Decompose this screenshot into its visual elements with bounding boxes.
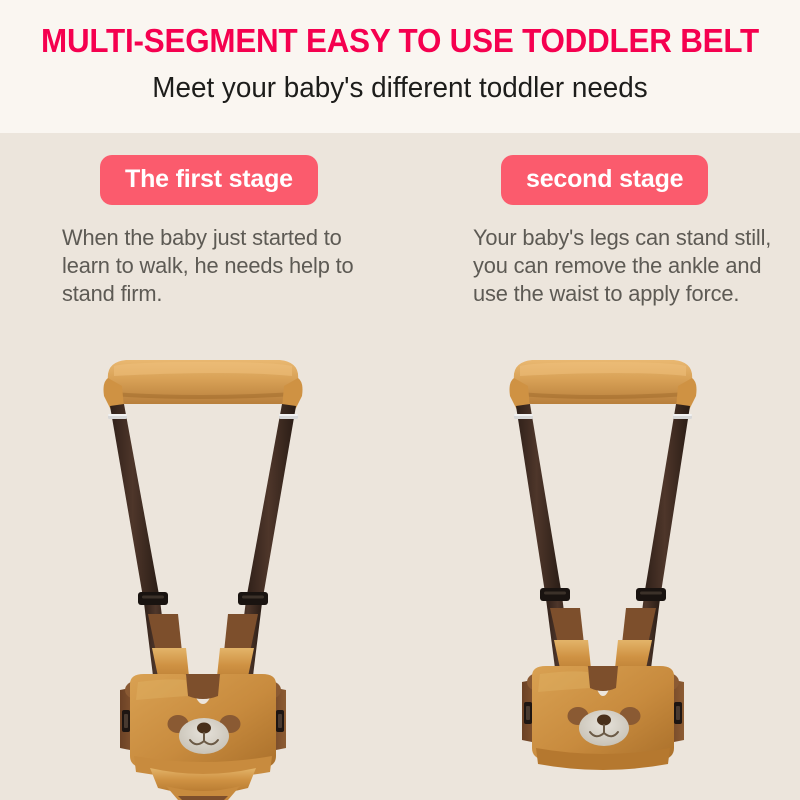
stage-description-first: When the baby just started to learn to w… bbox=[62, 224, 392, 308]
status-badge-second-stage: second stage bbox=[501, 155, 708, 205]
strap-adjuster-buckle-left bbox=[540, 588, 570, 601]
handle-bar bbox=[104, 360, 303, 412]
side-buckle-right bbox=[674, 702, 682, 724]
status-badge-first-stage: The first stage bbox=[100, 155, 318, 205]
page-title: MULTI-SEGMENT EASY TO USE TODDLER BELT bbox=[20, 21, 780, 61]
side-buckle-right bbox=[276, 710, 284, 732]
side-buckle-left bbox=[122, 710, 130, 732]
infographic-page: MULTI-SEGMENT EASY TO USE TODDLER BELT M… bbox=[0, 0, 800, 800]
bear-nose-icon bbox=[197, 723, 211, 734]
stage-column-first: The first stage When the baby just start… bbox=[62, 155, 402, 308]
header-band: MULTI-SEGMENT EASY TO USE TODDLER BELT M… bbox=[0, 0, 800, 133]
side-buckle-left bbox=[524, 702, 532, 724]
badge-wrapper: The first stage bbox=[100, 155, 402, 205]
strap-adjuster-buckle-right bbox=[636, 588, 666, 601]
bear-nose-icon bbox=[597, 715, 611, 726]
handle-bar bbox=[510, 360, 697, 412]
strap-adjuster-buckle-left bbox=[138, 592, 168, 605]
toddler-belt-illustration-waist bbox=[478, 352, 728, 800]
stage-description-second: Your baby's legs can stand still, you ca… bbox=[473, 224, 793, 308]
stage-column-second: second stage Your baby's legs can stand … bbox=[473, 155, 800, 308]
page-subtitle: Meet your baby's different toddler needs bbox=[16, 69, 784, 107]
strap-adjuster-buckle-right bbox=[238, 592, 268, 605]
product-image-second-stage bbox=[478, 352, 728, 800]
product-image-first-stage bbox=[78, 352, 328, 800]
badge-wrapper: second stage bbox=[501, 155, 800, 205]
toddler-belt-illustration-full bbox=[78, 352, 328, 800]
